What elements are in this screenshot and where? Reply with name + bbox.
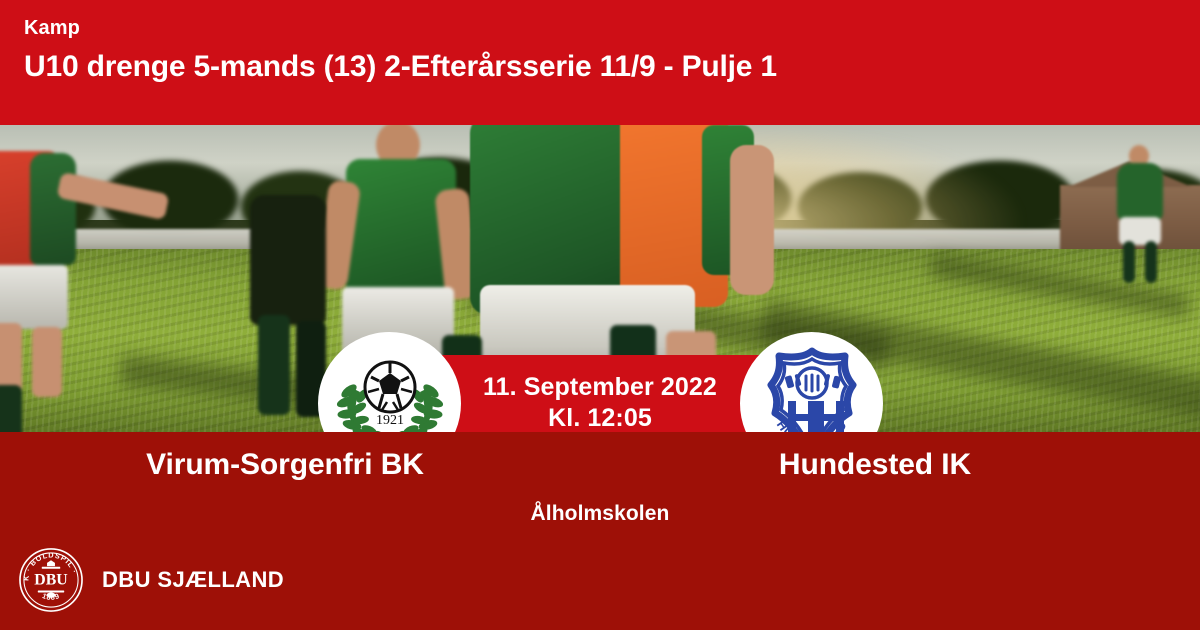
away-team-name: Hundested IK <box>779 448 971 481</box>
match-poster: Kamp U10 drenge 5-mands (13) 2-Efterårss… <box>0 0 1200 630</box>
home-team-name-wrap: Virum-Sorgenfri BK <box>0 448 600 481</box>
match-venue: Ålholmskolen <box>0 502 1200 526</box>
header-kicker: Kamp <box>24 18 1176 38</box>
dbu-seal-icon: DANSK · BOLDSPIL · UNION 1889 DBU <box>18 547 84 613</box>
poster-footer: DANSK · BOLDSPIL · UNION 1889 DBU DBU SJ… <box>0 530 1200 630</box>
away-team-name-wrap: Hundested IK <box>600 448 1200 481</box>
crest-year: 1921 <box>376 413 404 428</box>
footer-organisation: DBU SJÆLLAND <box>102 567 284 593</box>
home-team-name: Virum-Sorgenfri BK <box>146 448 424 481</box>
dbu-monogram: DBU <box>34 572 68 589</box>
poster-header: Kamp U10 drenge 5-mands (13) 2-Efterårss… <box>0 0 1200 125</box>
page-title: U10 drenge 5-mands (13) 2-Efterårsserie … <box>24 50 1176 83</box>
match-center-row: 11. September 2022 Kl. 12:05 <box>0 125 1200 432</box>
match-date: 11. September 2022 <box>483 372 717 403</box>
match-time: Kl. 12:05 <box>548 403 652 434</box>
